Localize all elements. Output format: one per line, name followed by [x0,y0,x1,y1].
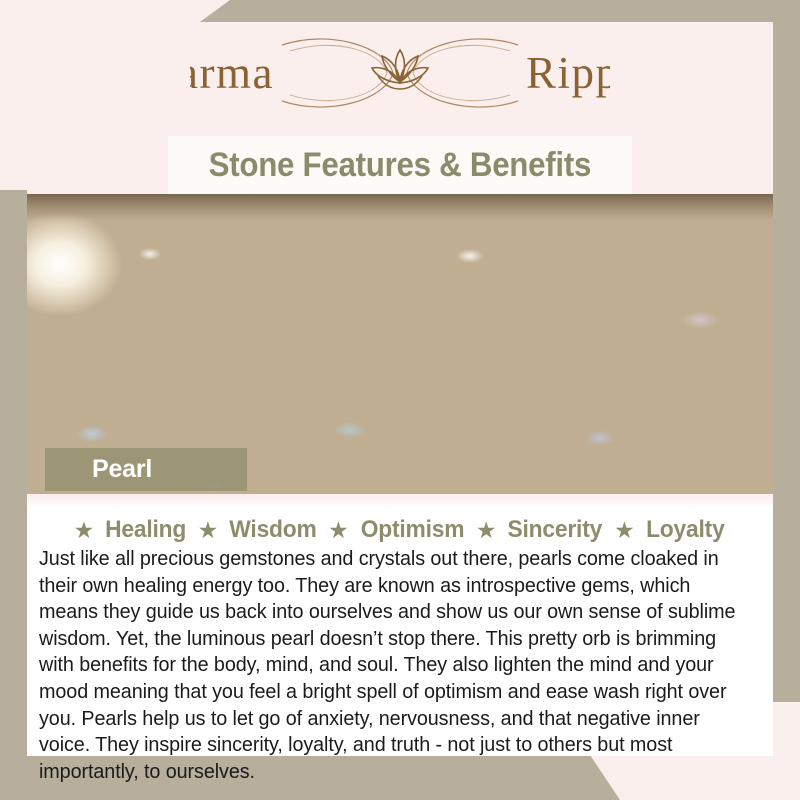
description-paragraph: Just like all precious gemstones and cry… [39,546,740,785]
brand-name-left: Karma [190,48,274,98]
keyword-healing: Healing [105,516,186,544]
brand-name-right: Ripple [526,48,610,98]
star-icon: ★ [614,519,635,542]
stone-name-badge: Pearl [45,448,247,491]
keyword-wisdom: Wisdom [230,516,317,544]
frame-top-bar [0,0,800,22]
page-title: Stone Features & Benefits [209,146,591,185]
keyword-sincerity: Sincerity [508,516,603,544]
brand-logo: Karma Ripple [0,30,800,118]
star-icon: ★ [74,519,95,542]
infographic-page: Karma Ripple Stone Features & Benefits P… [0,0,800,800]
stone-name-label: Pearl [92,455,152,484]
logo-svg: Karma Ripple [190,31,610,117]
keyword-loyalty: Loyalty [646,516,724,544]
description-card: ★ Healing ★ Wisdom ★ Optimism ★ Sincerit… [27,494,773,756]
keyword-optimism: Optimism [360,516,464,544]
star-icon: ★ [328,519,349,542]
star-icon: ★ [476,519,497,542]
frame-left-bar [0,190,27,800]
section-title-banner: Stone Features & Benefits [168,136,632,194]
star-icon: ★ [198,519,219,542]
keyword-list: ★ Healing ★ Wisdom ★ Optimism ★ Sincerit… [27,516,773,544]
